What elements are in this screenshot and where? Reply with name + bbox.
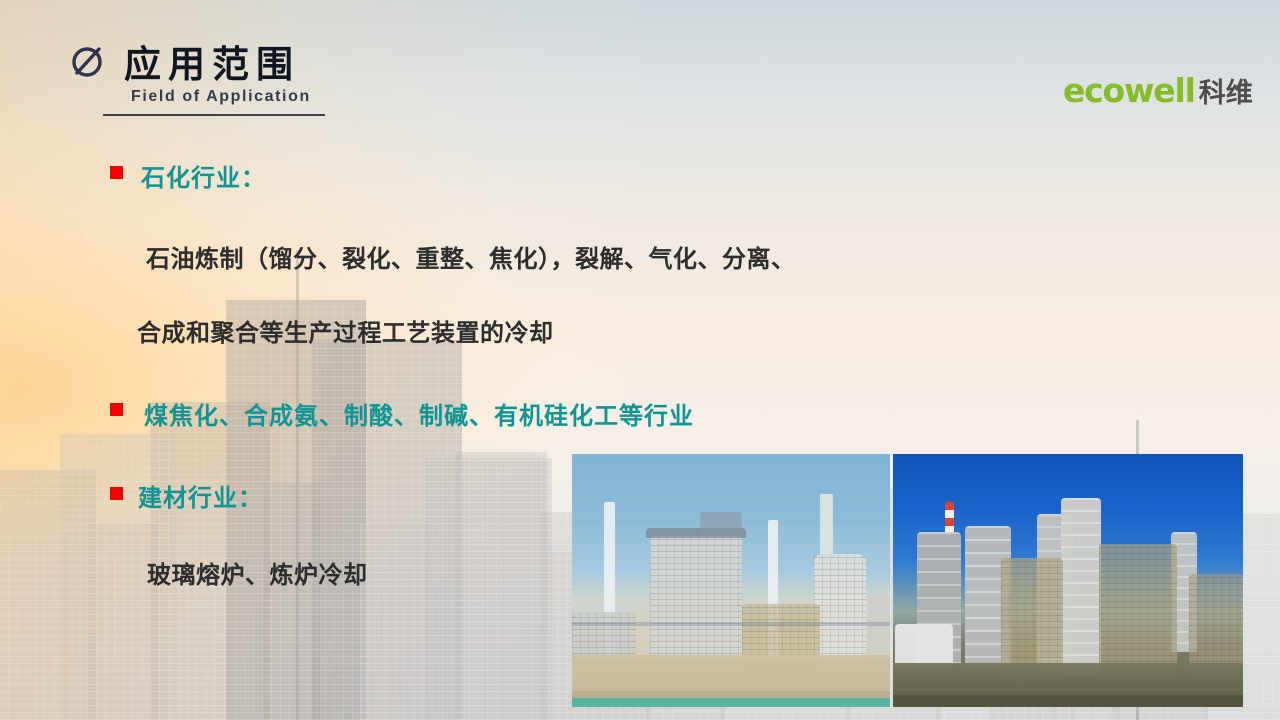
body-line-furnace: 玻璃熔炉、炼炉冷却 [147, 555, 368, 590]
section-heading-building-materials: 建材行业： [138, 478, 263, 513]
bullet-marker [110, 403, 123, 416]
body-line-synthesis: 合成和聚合等生产过程工艺装置的冷却 [137, 313, 554, 348]
photo-bottom-strip [572, 698, 890, 707]
section-heading-coking: 煤焦化、合成氨、制酸、制碱、有机硅化工等行业 [144, 396, 694, 431]
section-heading-petrochemical: 石化行业： [141, 158, 266, 193]
bullet-marker [110, 166, 123, 179]
chemical-plant-construction-photo [893, 454, 1243, 707]
bullet-marker [110, 487, 123, 500]
petrochemical-refinery-photo [572, 454, 890, 707]
slide-canvas: 应用范围 Field of Application ecowell科维 石化行业… [0, 0, 1280, 720]
body-line-refining: 石油炼制（馏分、裂化、重整、焦化），裂解、气化、分离、 [146, 239, 796, 274]
